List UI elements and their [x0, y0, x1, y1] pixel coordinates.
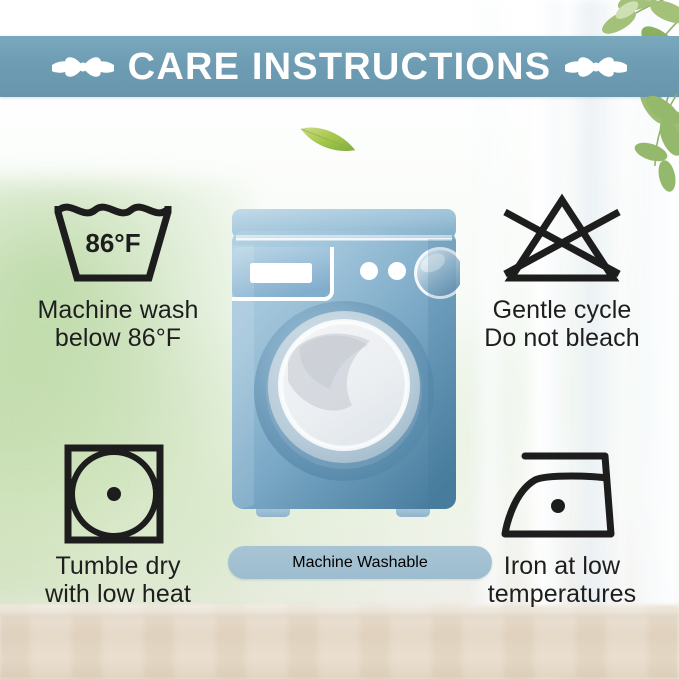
washing-machine-illustration: [228, 205, 460, 535]
green-leaf-icon: [297, 120, 359, 156]
label-line-1: Iron at low: [504, 552, 620, 580]
care-instructions-poster: CARE INSTRUCTIONS: [0, 0, 679, 679]
care-symbol-iron-low: Iron at low temperatures: [452, 442, 672, 608]
tumble-dry-low-icon: [8, 442, 228, 546]
label-line-1: Tumble dry: [55, 552, 180, 580]
care-symbol-label: Iron at low temperatures: [452, 552, 672, 608]
crossed-triangle-icon: [452, 186, 672, 290]
care-symbol-machine-wash: 86°F Machine wash below 86°F: [8, 186, 228, 352]
care-symbol-label: Tumble dry with low heat: [8, 552, 228, 608]
wash-temperature-value: 86°F: [85, 228, 140, 258]
label-line-2: below 86°F: [55, 324, 181, 352]
fleur-de-lis-icon: [565, 44, 627, 90]
label-line-2: with low heat: [45, 580, 191, 608]
page-title: CARE INSTRUCTIONS: [114, 48, 566, 86]
fleur-de-lis-icon: [52, 44, 114, 90]
care-symbol-tumble-dry-low: Tumble dry with low heat: [8, 442, 228, 608]
label-line-1: Gentle cycle: [493, 296, 632, 324]
care-symbol-label: Gentle cycle Do not bleach: [452, 296, 672, 352]
label-line-1: Machine wash: [37, 296, 198, 324]
badge-label: Machine Washable: [292, 554, 427, 572]
care-symbol-do-not-bleach: Gentle cycle Do not bleach: [452, 186, 672, 352]
care-symbol-label: Machine wash below 86°F: [8, 296, 228, 352]
header-banner: CARE INSTRUCTIONS: [0, 36, 679, 97]
wash-tub-icon: 86°F: [8, 186, 228, 290]
iron-one-dot-icon: [452, 442, 672, 546]
label-line-2: temperatures: [488, 580, 637, 608]
label-line-2: Do not bleach: [484, 324, 640, 352]
